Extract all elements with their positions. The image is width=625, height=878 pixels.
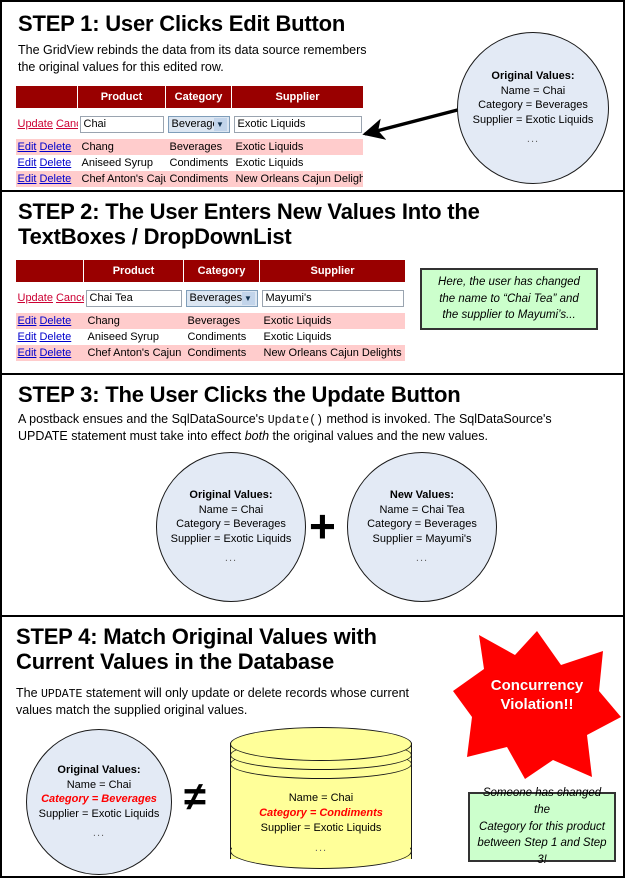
step-3-title: STEP 3: The User Clicks the Update Butto… [18, 383, 538, 408]
callout-line-2: the name to “Chai Tea” and [439, 291, 579, 308]
bubble-ellipsis: ... [416, 551, 428, 566]
desc-code-update: Update() [268, 414, 323, 427]
delete-link[interactable]: Delete [39, 347, 71, 359]
supplier-edit-cell: Mayumi's [260, 283, 406, 314]
update-link[interactable]: Update [18, 292, 53, 304]
bubble-ellipsis: ... [527, 132, 539, 147]
edit-link[interactable]: Edit [18, 173, 37, 185]
delete-link[interactable]: Delete [39, 157, 71, 169]
table-row-editing: UpdateCancel Chai Beverages ▼ Ex [16, 109, 364, 140]
cell-supplier: New Orleans Cajun Delights [260, 345, 406, 361]
table-row: EditDelete Chang Beverages Exotic Liquid… [16, 139, 364, 155]
bubble-ellipsis: ... [93, 826, 105, 841]
edit-link[interactable]: Edit [18, 347, 37, 359]
chevron-down-icon[interactable]: ▼ [242, 292, 255, 305]
cylinder-top-ellipse [230, 727, 412, 761]
table-header-row: Product Category Supplier [16, 86, 364, 109]
bubble-line-supplier: Supplier = Exotic Liquids [39, 807, 160, 822]
supplier-textbox[interactable]: Mayumi's [262, 290, 404, 307]
bubble-title: Original Values: [57, 763, 140, 778]
desc-text-1: A postback ensues and the SqlDataSource'… [18, 412, 268, 426]
delete-link[interactable]: Delete [39, 173, 71, 185]
db-line-supplier: Supplier = Exotic Liquids [230, 821, 412, 836]
cell-category: Condiments [184, 345, 260, 361]
step-3-section: STEP 3: The User Clicks the Update Butto… [2, 375, 623, 613]
cell-supplier: Exotic Liquids [260, 313, 406, 329]
step-4-callout: Someone has changed the Category for thi… [468, 792, 616, 862]
star-line-1: Concurrency [453, 677, 621, 696]
supplier-textbox[interactable]: Exotic Liquids [234, 116, 362, 133]
row-commands: EditDelete [16, 313, 84, 329]
row-commands: EditDelete [16, 171, 78, 187]
step-2-callout: Here, the user has changed the name to “… [420, 268, 598, 330]
edit-row-commands: UpdateCancel [16, 109, 78, 140]
database-cylinder: Name = Chai Category = Condiments Suppli… [230, 727, 412, 875]
column-header-supplier: Supplier [232, 86, 364, 109]
not-equal-symbol: ≠ [184, 777, 206, 817]
table-row: EditDelete Aniseed Syrup Condiments Exot… [16, 155, 364, 171]
cylinder-values: Name = Chai Category = Condiments Suppli… [230, 791, 412, 855]
row-commands: EditDelete [16, 155, 78, 171]
callout-line-3: the supplier to Mayumi’s... [442, 307, 575, 324]
star-label: Concurrency Violation!! [453, 677, 621, 715]
cell-supplier: Exotic Liquids [232, 139, 364, 155]
callout-line-2: Category for this product [479, 819, 605, 836]
table-row: EditDelete Aniseed Syrup Condiments Exot… [16, 329, 406, 345]
bubble-title: New Values: [390, 488, 454, 503]
cell-category: Beverages [184, 313, 260, 329]
bubble-line-supplier: Supplier = Mayumi's [373, 532, 472, 547]
db-line-name: Name = Chai [230, 791, 412, 806]
supplier-edit-cell: Exotic Liquids [232, 109, 364, 140]
table-header-row: Product Category Supplier [16, 260, 406, 283]
product-textbox[interactable]: Chai Tea [86, 290, 182, 307]
table-row: EditDelete Chef Anton's Cajun Condiments… [16, 171, 364, 187]
cell-category: Beverages [166, 139, 232, 155]
cell-product: Chef Anton's Cajun [84, 345, 184, 361]
cell-product: Aniseed Syrup [78, 155, 166, 171]
cell-product: Aniseed Syrup [84, 329, 184, 345]
cell-category: Condiments [184, 329, 260, 345]
step-4-section: STEP 4: Match Original Values with Curre… [2, 617, 623, 878]
cancel-link[interactable]: Cancel [56, 292, 84, 304]
cell-product: Chang [78, 139, 166, 155]
edit-row-commands: UpdateCancel [16, 283, 84, 314]
bubble-line-category: Category = Beverages [176, 517, 286, 532]
bubble-line-name: Name = Chai Tea [379, 503, 464, 518]
bubble-line-category-highlight: Category = Beverages [41, 792, 157, 807]
table-row-editing: UpdateCancel Chai Tea Beverages ▼ [16, 283, 406, 314]
column-header-product: Product [84, 260, 184, 283]
category-dropdown-value: Beverages [190, 292, 243, 304]
bubble-ellipsis: ... [225, 551, 237, 566]
cell-supplier: Exotic Liquids [232, 155, 364, 171]
star-line-2: Violation!! [453, 696, 621, 715]
bubble-line-supplier: Supplier = Exotic Liquids [171, 532, 292, 547]
product-edit-cell: Chai [78, 109, 166, 140]
bubble-line-name: Name = Chai [199, 503, 264, 518]
column-header-commands [16, 86, 78, 109]
category-dropdown[interactable]: Beverages ▼ [168, 116, 230, 133]
step-1-section: STEP 1: User Clicks Edit Button The Grid… [2, 4, 623, 190]
cell-category: Condiments [166, 155, 232, 171]
product-textbox[interactable]: Chai [80, 116, 164, 133]
edit-link[interactable]: Edit [18, 331, 37, 343]
cell-supplier: New Orleans Cajun Delights [232, 171, 364, 187]
bubble-title: Original Values: [491, 69, 574, 84]
category-edit-cell: Beverages ▼ [166, 109, 232, 140]
cell-supplier: Exotic Liquids [260, 329, 406, 345]
concurrency-violation-star: Concurrency Violation!! [453, 629, 621, 779]
step-1-description: The GridView rebinds the data from its d… [18, 42, 373, 75]
step-4-title: STEP 4: Match Original Values with Curre… [16, 625, 446, 674]
bubble-line-supplier: Supplier = Exotic Liquids [473, 113, 594, 128]
product-edit-cell: Chai Tea [84, 283, 184, 314]
table-row: EditDelete Chang Beverages Exotic Liquid… [16, 313, 406, 329]
original-values-bubble-step3: Original Values: Name = Chai Category = … [156, 452, 306, 602]
bubble-line-name: Name = Chai [501, 84, 566, 99]
delete-link[interactable]: Delete [39, 315, 71, 327]
edit-link[interactable]: Edit [18, 315, 37, 327]
step-1-title: STEP 1: User Clicks Edit Button [18, 12, 418, 37]
edit-link[interactable]: Edit [18, 157, 37, 169]
original-values-bubble-step4: Original Values: Name = Chai Category = … [26, 729, 172, 875]
bubble-line-name: Name = Chai [67, 778, 132, 793]
callout-line-1: Someone has changed the [476, 785, 608, 818]
column-header-commands [16, 260, 84, 283]
step-2-section: STEP 2: The User Enters New Values Into … [2, 192, 623, 372]
column-header-supplier: Supplier [260, 260, 406, 283]
chevron-down-icon[interactable]: ▼ [214, 118, 227, 131]
bubble-line-category: Category = Beverages [478, 98, 588, 113]
row-commands: EditDelete [16, 139, 78, 155]
new-values-bubble-step3: New Values: Name = Chai Tea Category = B… [347, 452, 497, 602]
desc-text-3: the original values and the new values. [269, 429, 488, 443]
delete-link[interactable]: Delete [39, 331, 71, 343]
update-link[interactable]: Update [18, 118, 53, 130]
edit-link[interactable]: Edit [18, 141, 37, 153]
callout-line-1: Here, the user has changed [438, 274, 580, 291]
gridview-step2: Product Category Supplier UpdateCancel C… [15, 259, 405, 364]
category-edit-cell: Beverages ▼ [184, 283, 260, 314]
desc-text-1: The [16, 686, 41, 700]
step-4-description: The UPDATE statement will only update or… [16, 685, 448, 719]
delete-link[interactable]: Delete [39, 141, 71, 153]
bubble-line-category: Category = Beverages [367, 517, 477, 532]
cell-category: Condiments [166, 171, 232, 187]
callout-line-3: between Step 1 and Step 3! [476, 835, 608, 868]
step-2-title: STEP 2: The User Enters New Values Into … [18, 200, 578, 249]
bubble-title: Original Values: [189, 488, 272, 503]
column-header-product: Product [78, 86, 166, 109]
gridview-step1: Product Category Supplier UpdateCancel C… [15, 85, 363, 188]
table-row: EditDelete Chef Anton's Cajun Condiments… [16, 345, 406, 361]
row-commands: EditDelete [16, 329, 84, 345]
diagram-page: STEP 1: User Clicks Edit Button The Grid… [0, 0, 625, 878]
step-3-description: A postback ensues and the SqlDataSource'… [18, 411, 603, 445]
cancel-link[interactable]: Cancel [56, 118, 78, 130]
db-ellipsis: ... [230, 841, 412, 856]
category-dropdown[interactable]: Beverages ▼ [186, 290, 258, 307]
row-commands: EditDelete [16, 345, 84, 361]
column-header-category: Category [166, 86, 232, 109]
original-values-bubble-step1: Original Values: Name = Chai Category = … [457, 32, 609, 184]
desc-code-update: UPDATE [41, 688, 82, 701]
plus-symbol: + [309, 503, 336, 549]
desc-italic-both: both [245, 429, 269, 443]
column-header-category: Category [184, 260, 260, 283]
cell-product: Chang [84, 313, 184, 329]
cell-product: Chef Anton's Cajun [78, 171, 166, 187]
db-line-category-highlight: Category = Condiments [230, 806, 412, 821]
